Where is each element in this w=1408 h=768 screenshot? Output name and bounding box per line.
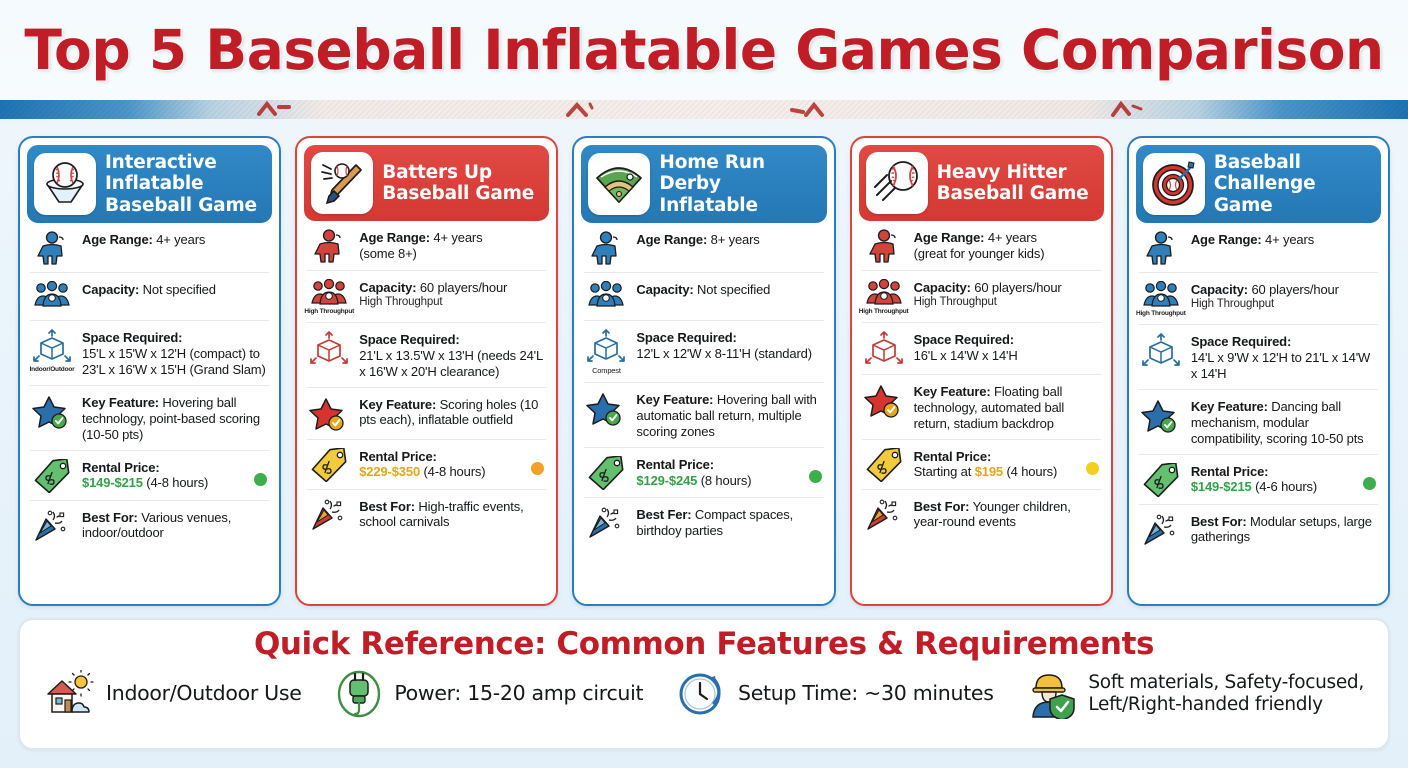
person-icon	[584, 230, 628, 265]
space-label: Space Required:	[82, 330, 182, 345]
spec-row-best-for: Best For: Various venues, indoor/outdoor	[30, 501, 269, 550]
star-check-icon	[862, 382, 906, 419]
price-tag-icon	[1139, 462, 1183, 497]
card-specs: Age Range: 4+ years High Throughput Capa…	[1136, 223, 1381, 599]
stitch-icon	[1105, 101, 1147, 118]
product-card[interactable]: Baseball Challenge Game Age Range: 4+ ye…	[1127, 136, 1390, 606]
header-title-bar: Top 5 Baseball Inflatable Games Comparis…	[0, 0, 1408, 100]
price-duration: (4-8 hours)	[424, 464, 486, 479]
house-sun-cloud-icon	[44, 670, 96, 718]
capacity-value: Not specified	[143, 282, 216, 297]
spec-row-age: Age Range: 4+ years	[1139, 223, 1378, 273]
age-value: 4+ years	[433, 230, 482, 245]
quick-reference-items: Indoor/Outdoor Use Power: 15-20 amp circ…	[30, 663, 1378, 719]
space-label: Space Required:	[636, 330, 736, 345]
quick-reference-title: Quick Reference: Common Features & Requi…	[30, 626, 1378, 663]
space-label: Space Required:	[914, 332, 1014, 347]
price-amount: $149-$215	[1191, 479, 1252, 494]
card-header: Heavy Hitter Baseball Game	[859, 145, 1104, 221]
party-popper-icon	[30, 508, 74, 543]
card-title: Home Run Derby Inflatable	[659, 152, 817, 216]
group-icon	[30, 280, 74, 309]
quick-reference-item: Setup Time: ~30 minutes	[676, 670, 994, 718]
party-popper-icon	[1139, 512, 1183, 547]
price-tag-icon	[307, 447, 351, 482]
card-specs: Age Range: 8+ years Capacity: Not specif…	[581, 223, 826, 599]
group-icon: High Throughput	[307, 278, 351, 315]
price-label: Rental Price:	[1191, 464, 1269, 479]
capacity-subtext: High Throughput	[359, 296, 546, 310]
quick-reference-item: Indoor/Outdoor Use	[44, 670, 302, 718]
space-value: 12'L x 12'W x 8-11'H (standard)	[636, 346, 811, 361]
quick-reference-panel: Quick Reference: Common Features & Requi…	[18, 618, 1390, 750]
feature-label: Key Feature:	[1191, 399, 1268, 414]
spec-row-space: Indoor/Outdoor Space Required: 15'L x 15…	[30, 321, 269, 386]
feature-label: Key Feature:	[82, 395, 159, 410]
space-label: Space Required:	[359, 332, 459, 347]
best-for-label: Best For:	[82, 510, 138, 525]
age-value: 8+ years	[711, 232, 760, 247]
capacity-label: Capacity:	[82, 282, 139, 297]
feature-label: Key Feature:	[914, 384, 991, 399]
stitch-icon	[790, 101, 832, 118]
age-value: 4+ years	[1265, 232, 1314, 247]
cube-dimensions-icon	[307, 330, 351, 367]
age-label: Age Range:	[914, 230, 985, 245]
price-label: Rental Price:	[359, 449, 437, 464]
quick-reference-text: Indoor/Outdoor Use	[106, 681, 302, 705]
price-status-dot	[254, 473, 267, 486]
price-status-dot	[1086, 462, 1099, 475]
spec-row-capacity: High Throughput Capacity: 60 players/hou…	[862, 271, 1101, 323]
baseball-in-funnel-icon	[34, 153, 96, 215]
price-amount: $229-$350	[359, 464, 420, 479]
spec-row-feature: Key Feature: Floating ball technology, a…	[862, 375, 1101, 440]
price-duration: (4-6 hours)	[1255, 479, 1317, 494]
spec-row-age: Age Range: 4+ years	[30, 223, 269, 273]
best-for-label: Best For:	[359, 499, 415, 514]
price-tag-icon	[30, 458, 74, 493]
price-tag-icon	[584, 455, 628, 490]
spec-row-price: Rental Price: Starting at $195 (4 hours)	[862, 440, 1101, 490]
price-duration: (8 hours)	[701, 473, 752, 488]
clock-arrow-icon	[676, 670, 728, 718]
spec-row-feature: Key Feature: Scoring holes (10 pts each)…	[307, 388, 546, 440]
spec-row-best-for: Best Fer: Compact spaces, birthdoy parti…	[584, 498, 823, 547]
card-title: Interactive Inflatable Baseball Game	[105, 152, 263, 216]
card-header: Baseball Challenge Game	[1136, 145, 1381, 223]
spec-row-best-for: Best For: Modular setups, large gatherin…	[1139, 505, 1378, 554]
space-icon-caption: Compest	[592, 366, 621, 375]
party-popper-icon	[862, 497, 906, 532]
star-check-icon	[30, 393, 74, 430]
capacity-icon-caption: High Throughput	[304, 308, 354, 315]
spec-row-age: Age Range: 8+ years	[584, 223, 823, 273]
cube-dimensions-icon	[1139, 332, 1183, 369]
best-for-label: Best Fer:	[636, 507, 691, 522]
price-amount: $195	[975, 464, 1003, 479]
age-value: 4+ years	[156, 232, 205, 247]
space-value: 15'L x 15'W x 12'H (compact) to 23'L x 1…	[82, 346, 266, 377]
capacity-icon-caption: High Throughput	[1136, 310, 1186, 317]
price-status-dot	[531, 462, 544, 475]
stitch-icon	[255, 101, 297, 118]
space-value: 16'L x 14'W x 14'H	[914, 348, 1018, 363]
age-label: Age Range:	[359, 230, 430, 245]
party-popper-icon	[584, 505, 628, 540]
spec-row-feature: Key Feature: Hovering ball technology, p…	[30, 386, 269, 451]
capacity-value: 60 players/hour	[420, 280, 507, 295]
power-plug-icon	[334, 670, 384, 718]
bat-and-ball-icon	[311, 152, 373, 214]
spec-row-price: Rental Price: $129-$245 (8 hours)	[584, 448, 823, 498]
quick-reference-text: Soft materials, Safety-focused,	[1088, 672, 1364, 693]
spec-row-capacity: Capacity: Not specified	[30, 273, 269, 321]
price-amount: $149-$215	[82, 475, 143, 490]
space-icon-caption: Indoor/Outdoor	[30, 366, 75, 373]
star-check-icon	[307, 395, 351, 432]
spec-row-age: Age Range: 4+ years(some 8+)	[307, 221, 546, 271]
age-label: Age Range:	[1191, 232, 1262, 247]
price-prefix: Starting at	[914, 464, 975, 479]
spec-row-feature: Key Feature: Dancing ball mechanism, mod…	[1139, 390, 1378, 455]
price-label: Rental Price:	[636, 457, 714, 472]
person-icon	[30, 230, 74, 265]
card-specs: Age Range: 4+ years(great for younger ki…	[859, 221, 1104, 599]
space-value: 21'L x 13.5'W x 13'H (needs 24'L x 16'W …	[359, 348, 542, 379]
spec-row-capacity: Capacity: Not specified	[584, 273, 823, 321]
spec-row-age: Age Range: 4+ years(great for younger ki…	[862, 221, 1101, 271]
spec-row-best-for: Best For: High-traffic events, school ca…	[307, 490, 546, 539]
age-sub: (great for younger kids)	[914, 246, 1045, 261]
baseball-field-icon	[588, 153, 650, 215]
baseball-target-icon	[1143, 153, 1205, 215]
spec-row-space: Space Required: 21'L x 13.5'W x 13'H (ne…	[307, 323, 546, 388]
person-icon	[307, 228, 351, 263]
capacity-label: Capacity:	[1191, 282, 1248, 297]
capacity-label: Capacity:	[636, 282, 693, 297]
spec-row-space: Compest Space Required: 12'L x 12'W x 8-…	[584, 321, 823, 383]
spec-row-feature: Key Feature: Hovering ball with automati…	[584, 383, 823, 448]
product-card[interactable]: Interactive Inflatable Baseball Game Age…	[18, 136, 281, 606]
price-label: Rental Price:	[914, 449, 992, 464]
spec-row-capacity: High Throughput Capacity: 60 players/hou…	[1139, 273, 1378, 325]
spec-row-capacity: High Throughput Capacity: 60 players/hou…	[307, 271, 546, 323]
capacity-subtext: High Throughput	[1191, 298, 1378, 312]
age-label: Age Range:	[636, 232, 707, 247]
quick-reference-item: Power: 15-20 amp circuit	[334, 670, 643, 718]
group-icon	[584, 280, 628, 309]
page-title: Top 5 Baseball Inflatable Games Comparis…	[24, 18, 1383, 82]
group-icon: High Throughput	[1139, 280, 1183, 317]
card-header: Batters Up Baseball Game	[304, 145, 549, 221]
card-title: Baseball Challenge Game	[1214, 152, 1372, 216]
person-icon	[1139, 230, 1183, 265]
product-card[interactable]: Heavy Hitter Baseball Game Age Range: 4+…	[850, 136, 1113, 606]
age-sub: (some 8+)	[359, 246, 417, 261]
cube-dimensions-icon: Compest	[584, 328, 628, 375]
card-title: Batters Up Baseball Game	[382, 162, 540, 205]
card-header: Interactive Inflatable Baseball Game	[27, 145, 272, 223]
cube-dimensions-icon	[862, 330, 906, 367]
spec-row-price: Rental Price: $149-$215 (4-6 hours)	[1139, 455, 1378, 505]
card-header: Home Run Derby Inflatable	[581, 145, 826, 223]
star-check-icon	[584, 390, 628, 427]
capacity-value: Not specified	[697, 282, 770, 297]
age-label: Age Range:	[82, 232, 153, 247]
price-duration: (4-8 hours)	[146, 475, 208, 490]
spec-row-space: Space Required: 16'L x 14'W x 14'H	[862, 323, 1101, 375]
price-label: Rental Price:	[82, 460, 160, 475]
safety-worker-shield-icon	[1026, 669, 1078, 719]
person-icon	[862, 228, 906, 263]
flying-baseball-icon	[866, 152, 928, 214]
card-title: Heavy Hitter Baseball Game	[937, 162, 1095, 205]
product-card[interactable]: Home Run Derby Inflatable Age Range: 8+ …	[572, 136, 835, 606]
product-card[interactable]: Batters Up Baseball Game Age Range: 4+ y…	[295, 136, 558, 606]
spec-row-space: Space Required: 14'L x 9'W x 12'H to 21'…	[1139, 325, 1378, 390]
capacity-label: Capacity:	[914, 280, 971, 295]
space-value: 14'L x 9'W x 12'H to 21'L x 14'W x 14'H	[1191, 350, 1370, 381]
stitch-icon	[562, 101, 604, 118]
capacity-subtext: High Throughput	[914, 296, 1101, 310]
feature-label: Key Feature:	[636, 392, 713, 407]
quick-reference-item: Soft materials, Safety-focused, Left/Rig…	[1026, 669, 1364, 719]
price-tag-icon	[862, 447, 906, 482]
group-icon: High Throughput	[862, 278, 906, 315]
cube-dimensions-icon: Indoor/Outdoor	[30, 328, 74, 373]
card-specs: Age Range: 4+ years Capacity: Not specif…	[27, 223, 272, 599]
price-amount: $129-$245	[636, 473, 697, 488]
spec-row-price: Rental Price: $229-$350 (4-8 hours)	[307, 440, 546, 490]
star-check-icon	[1139, 397, 1183, 434]
capacity-label: Capacity:	[359, 280, 416, 295]
card-specs: Age Range: 4+ years(some 8+) High Throug…	[304, 221, 549, 599]
quick-reference-text: Power: 15-20 amp circuit	[394, 681, 643, 705]
comparison-cards-row: Interactive Inflatable Baseball Game Age…	[0, 119, 1408, 606]
price-status-dot	[1363, 477, 1376, 490]
best-for-label: Best For:	[1191, 514, 1247, 529]
capacity-value: 60 players/hour	[974, 280, 1061, 295]
price-status-dot	[809, 470, 822, 483]
price-duration: (4 hours)	[1006, 464, 1057, 479]
quick-reference-text: Setup Time: ~30 minutes	[738, 681, 994, 705]
quick-reference-text-2: Left/Right-handed friendly	[1088, 694, 1322, 715]
best-for-label: Best For:	[914, 499, 970, 514]
capacity-icon-caption: High Throughput	[859, 308, 909, 315]
party-popper-icon	[307, 497, 351, 532]
capacity-value: 60 players/hour	[1251, 282, 1338, 297]
space-label: Space Required:	[1191, 334, 1291, 349]
feature-label: Key Feature:	[359, 397, 436, 412]
age-value: 4+ years	[988, 230, 1037, 245]
spec-row-best-for: Best For: Younger children, year-round e…	[862, 490, 1101, 539]
baseball-leather-banner	[0, 100, 1408, 119]
spec-row-price: Rental Price: $149-$215 (4-8 hours)	[30, 451, 269, 501]
